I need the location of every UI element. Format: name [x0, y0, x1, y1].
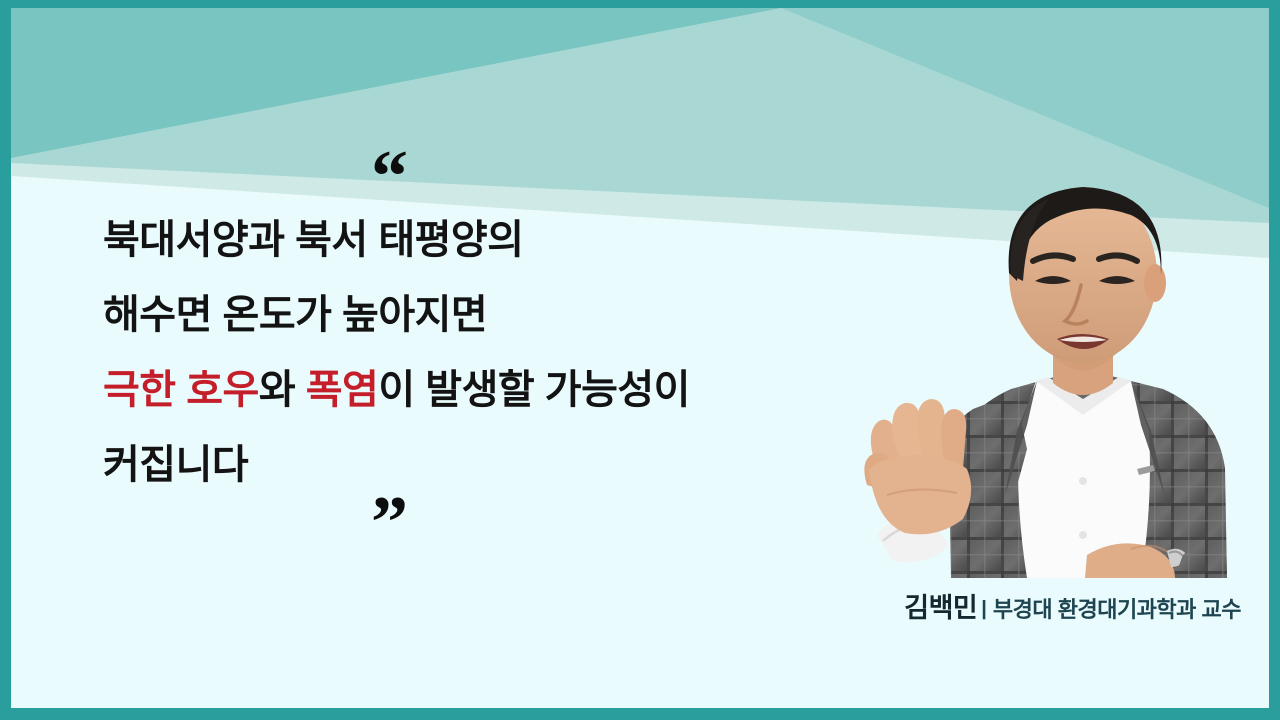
quote-line: 북대서양과 북서 태평양의: [103, 203, 823, 278]
quote-segment: 커집니다: [103, 443, 248, 487]
speaker-role: 부경대 환경대기과학과 교수: [993, 597, 1241, 622]
quote-segment-highlight: 극한 호우: [103, 368, 259, 412]
speaker-name: 김백민: [904, 593, 977, 623]
attribution-caption: 김백민|부경대 환경대기과학과 교수: [651, 586, 1241, 625]
quote-segment: 북대서양과 북서 태평양의: [103, 218, 524, 262]
quote-segment: 와: [259, 368, 306, 412]
quote-card: “ 북대서양과 북서 태평양의 해수면 온도가 높아지면 극한 호우와 폭염이 …: [0, 0, 1280, 720]
card-panel: “ 북대서양과 북서 태평양의 해수면 온도가 높아지면 극한 호우와 폭염이 …: [11, 8, 1269, 708]
hand-shape: [864, 399, 971, 534]
quote-segment: 해수면 온도가 높아지면: [103, 293, 487, 337]
portrait-photo: [831, 163, 1261, 578]
caption-divider: |: [981, 598, 987, 620]
quote-segment: 이 발생할 가능성이: [378, 368, 690, 412]
quote-line: 커집니다: [103, 428, 823, 503]
closing-quote-icon: ”: [371, 486, 406, 560]
quote-lines: 북대서양과 북서 태평양의 해수면 온도가 높아지면 극한 호우와 폭염이 발생…: [103, 203, 823, 503]
quote-line: 극한 호우와 폭염이 발생할 가능성이: [103, 353, 823, 428]
quote-line: 해수면 온도가 높아지면: [103, 278, 823, 353]
quote-segment-highlight: 폭염: [306, 368, 379, 412]
